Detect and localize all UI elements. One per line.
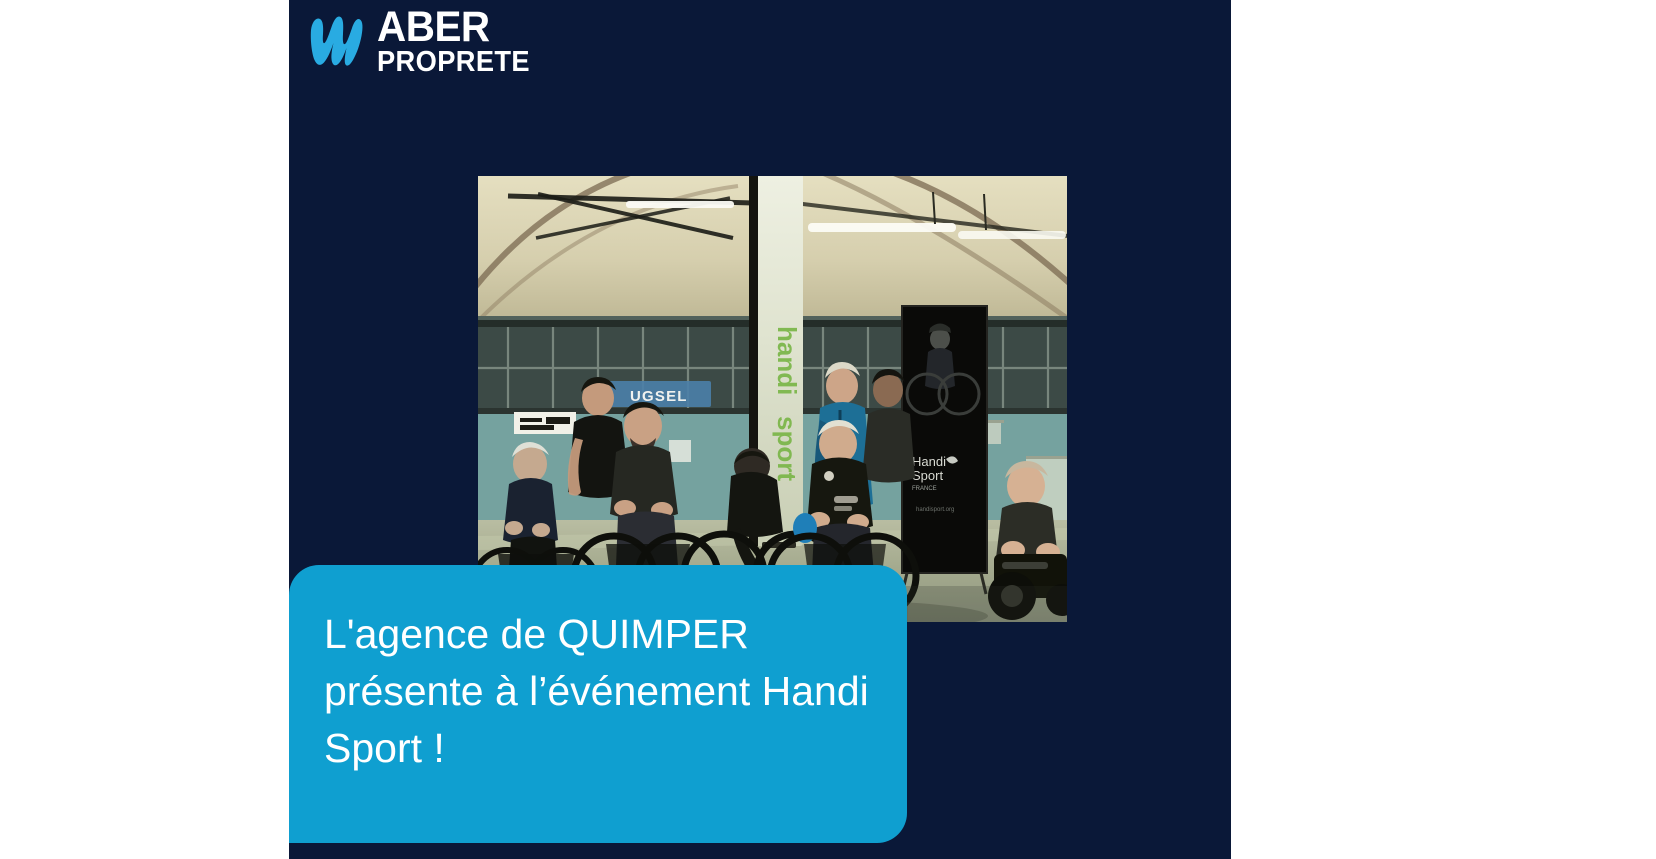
photo-poster-title-line-1: Handi: [912, 454, 946, 469]
svg-text:sport: sport: [772, 416, 802, 481]
brand-name-line-1: ABER: [377, 8, 490, 48]
caption-bubble: L'agence de QUIMPER présente à l’événeme…: [289, 565, 907, 843]
brand-logo[interactable]: ABER PROPRETE: [303, 6, 540, 75]
photo-poster-title-line-2: Sport: [912, 468, 943, 483]
brand-wordmark: ABER PROPRETE: [377, 6, 540, 75]
photo-poster-panel: Handi Sport FRANCE handisport.org: [902, 306, 987, 594]
event-photo: UGSEL: [478, 176, 1067, 622]
svg-text:handi: handi: [772, 326, 802, 395]
svg-text:handisport.org: handisport.org: [916, 507, 954, 513]
brand-name-line-2: PROPRETE: [377, 49, 530, 76]
svg-text:FRANCE: FRANCE: [912, 486, 937, 492]
aber-proprete-brushstroke-mark-icon: [303, 8, 369, 74]
social-post-card: ABER PROPRETE: [289, 0, 1231, 859]
page-canvas: ABER PROPRETE: [0, 0, 1656, 859]
caption-text: L'agence de QUIMPER présente à l’événeme…: [324, 606, 869, 777]
event-photo-illustration: UGSEL: [478, 176, 1067, 622]
